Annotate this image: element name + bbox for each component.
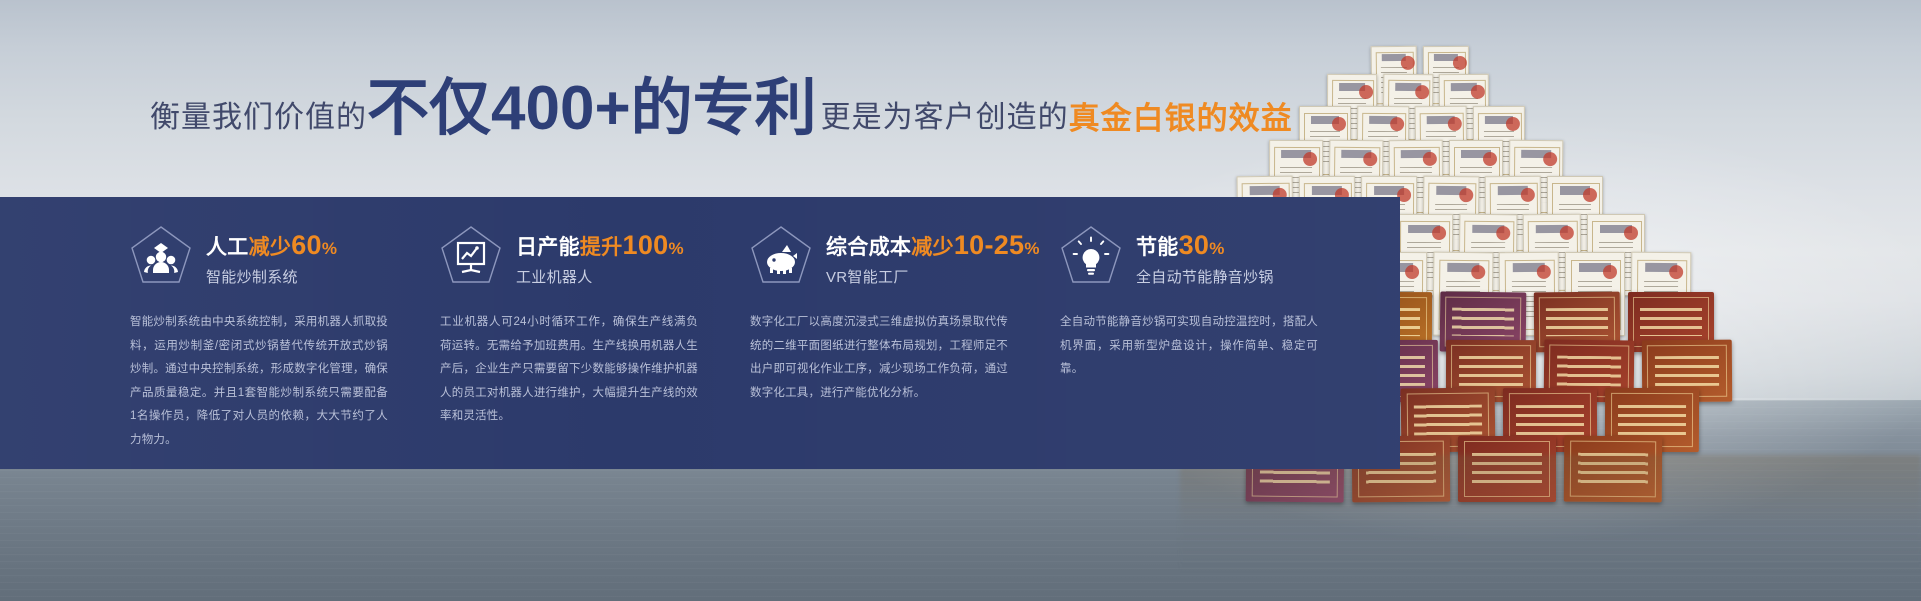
feature-panel: 人工减少60%智能炒制系统智能炒制系统由中央系统控制，采用机器人抓取投料，运用炒…	[0, 197, 1400, 469]
feature-title-plain: 日产能	[516, 236, 580, 259]
feature-title-group: 综合成本减少10-25%VR智能工厂	[826, 230, 1040, 287]
feature-item-1: 人工减少60%智能炒制系统智能炒制系统由中央系统控制，采用机器人抓取投料，运用炒…	[130, 225, 440, 452]
piggy-bank-icon	[750, 225, 812, 291]
feature-header: 节能30%全自动节能静音炒锅	[1060, 225, 1350, 291]
feature-title-number: 60	[291, 230, 322, 260]
feature-title-number: 10-25	[954, 230, 1025, 260]
feature-title-group: 日产能提升100%工业机器人	[516, 230, 684, 287]
feature-title-accent: 减少	[249, 236, 292, 259]
feature-header: 人工减少60%智能炒制系统	[130, 225, 420, 291]
feature-item-3: 综合成本减少10-25%VR智能工厂数字化工厂以高度沉浸式三维虚拟仿真场景取代传…	[750, 225, 1060, 452]
people-group-icon	[130, 225, 192, 291]
feature-title-plain: 综合成本	[826, 236, 911, 259]
feature-title-group: 节能30%全自动节能静音炒锅	[1136, 230, 1274, 287]
chart-board-icon	[440, 225, 502, 291]
feature-title-accent: 提升	[580, 236, 623, 259]
feature-subtitle: 工业机器人	[516, 266, 684, 287]
feature-title: 日产能提升100%	[516, 230, 684, 261]
feature-subtitle: VR智能工厂	[826, 266, 1040, 287]
lightbulb-icon	[1060, 225, 1122, 291]
feature-title-group: 人工减少60%智能炒制系统	[206, 230, 337, 287]
feature-item-2: 日产能提升100%工业机器人工业机器人可24小时循环工作，确保生产线满负荷运转。…	[440, 225, 750, 452]
feature-title-accent: 减少	[911, 236, 954, 259]
feature-title-percent: %	[322, 239, 337, 258]
feature-title-plain: 节能	[1136, 236, 1179, 259]
feature-subtitle: 全自动节能静音炒锅	[1136, 266, 1274, 287]
feature-title-percent: %	[668, 239, 683, 258]
feature-title-percent: %	[1024, 239, 1039, 258]
feature-item-4: 节能30%全自动节能静音炒锅全自动节能静音炒锅可实现自动控温控时，搭配人机界面，…	[1060, 225, 1370, 452]
feature-body-text: 全自动节能静音炒锅可实现自动控温控时，搭配人机界面，采用新型炉盘设计，操作简单、…	[1060, 311, 1318, 382]
headline-prefix: 衡量我们价值的	[150, 92, 367, 136]
award-plaque-item	[1458, 436, 1556, 502]
headline-highlight: 真金白银的效益	[1069, 93, 1293, 138]
award-plaque-item	[1564, 436, 1663, 503]
feature-title: 综合成本减少10-25%	[826, 230, 1040, 261]
feature-header: 综合成本减少10-25%VR智能工厂	[750, 225, 1040, 291]
page-headline: 衡量我们价值的 不仅400+的专利 更是为客户创造的 真金白银的效益	[150, 78, 1293, 150]
feature-title-number: 30	[1179, 230, 1210, 260]
feature-header: 日产能提升100%工业机器人	[440, 225, 730, 291]
feature-title-number: 100	[623, 230, 669, 260]
feature-title-percent: %	[1209, 239, 1224, 258]
feature-title: 人工减少60%	[206, 230, 337, 261]
feature-subtitle: 智能炒制系统	[206, 266, 337, 287]
feature-title-plain: 人工	[206, 236, 249, 259]
feature-body-text: 工业机器人可24小时循环工作，确保生产线满负荷运转。无需给予加班费用。生产线换用…	[440, 311, 698, 429]
feature-list: 人工减少60%智能炒制系统智能炒制系统由中央系统控制，采用机器人抓取投料，运用炒…	[130, 225, 1370, 452]
headline-emphasis: 不仅400+的专利	[367, 78, 817, 140]
feature-body-text: 智能炒制系统由中央系统控制，采用机器人抓取投料，运用炒制釜/密闭式炒锅替代传统开…	[130, 311, 388, 452]
feature-title: 节能30%	[1136, 230, 1274, 261]
headline-middle: 更是为客户创造的	[821, 92, 1069, 136]
feature-body-text: 数字化工厂以高度沉浸式三维虚拟仿真场景取代传统的二维平面图纸进行整体布局规划，工…	[750, 311, 1008, 405]
